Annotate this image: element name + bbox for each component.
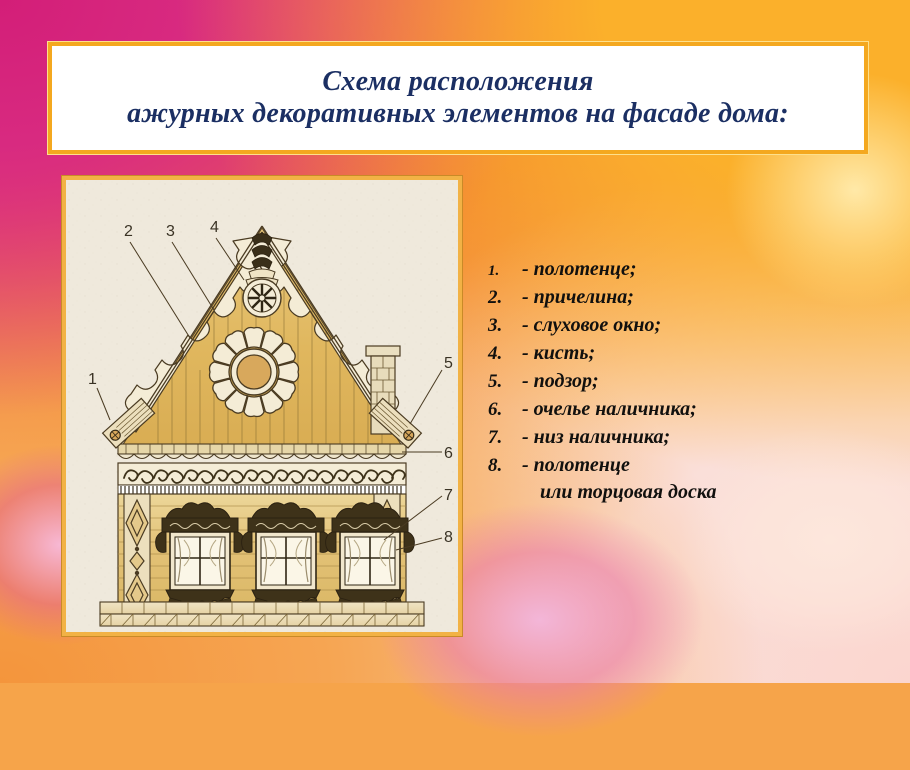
list-item: 8. - полотенце (488, 454, 888, 477)
legend-label: - полотенце; (522, 258, 636, 281)
callout-number-6: 6 (444, 445, 453, 462)
legend-number: 6. (488, 399, 522, 421)
legend-continuation-label: или торцовая доска (540, 481, 716, 503)
callout-number-2: 2 (124, 223, 133, 240)
callout-number-4: 4 (210, 219, 219, 236)
small-rosette-ornament (243, 279, 281, 317)
corner-pilaster-left (124, 494, 150, 616)
brick-foundation (100, 602, 424, 626)
illustration-frame: 2 3 4 1 5 6 7 8 (62, 176, 462, 636)
list-item: 7. - низ наличника; (488, 426, 888, 449)
wall-body (118, 494, 414, 616)
legend-list: 1. - полотенце; 2. - причелина; 3. - слу… (488, 258, 888, 504)
legend-label: - очелье наличника; (522, 398, 697, 421)
callout-number-5: 5 (444, 355, 453, 372)
list-item: 3. - слуховое окно; (488, 314, 888, 337)
list-item: 4. - кисть; (488, 342, 888, 365)
page-title-line-1: Схема расположения (322, 66, 593, 98)
legend-label: - кисть; (522, 342, 595, 365)
callout-number-3: 3 (166, 223, 175, 240)
legend-number: 3. (488, 315, 522, 337)
house-facade-drawing: 2 3 4 1 5 6 7 8 (66, 180, 458, 632)
legend-number: 7. (488, 427, 522, 449)
house-facade-illustration: 2 3 4 1 5 6 7 8 (66, 180, 458, 632)
legend-label: - слуховое окно; (522, 314, 661, 337)
eave-cornice-group (118, 444, 406, 494)
legend-label: - подзор; (522, 370, 599, 393)
list-item: 6. - очелье наличника; (488, 398, 888, 421)
legend-label: - полотенце (522, 454, 630, 477)
title-box: Схема расположения ажурных декоративных … (48, 42, 868, 154)
legend-label: - низ наличника; (522, 426, 670, 449)
callout-number-8: 8 (444, 529, 453, 546)
legend-number: 8. (488, 455, 522, 477)
list-item: 1. - полотенце; (488, 258, 888, 281)
sluhovoe-okno-rosette (210, 328, 299, 417)
page-title-line-2: ажурных декоративных элементов на фасаде… (127, 98, 789, 130)
legend-number: 2. (488, 287, 522, 309)
podzor-valance (118, 463, 406, 485)
legend-continuation: или торцовая доска (540, 481, 888, 504)
legend-number: 5. (488, 371, 522, 393)
legend-label: - причелина; (522, 286, 634, 309)
list-item: 5. - подзор; (488, 370, 888, 393)
legend-number: 1. (488, 263, 522, 280)
callout-number-1: 1 (88, 371, 97, 388)
list-item: 2. - причелина; (488, 286, 888, 309)
callout-number-7: 7 (444, 487, 453, 504)
legend-number: 4. (488, 343, 522, 365)
